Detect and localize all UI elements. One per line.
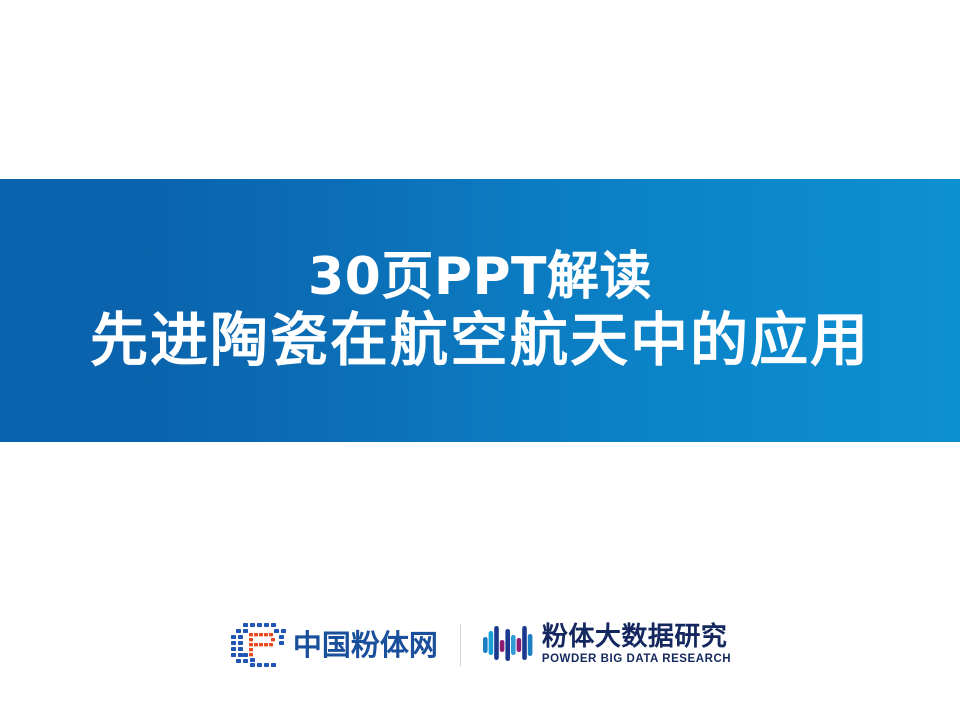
title-line-secondary: 先进陶瓷在航空航天中的应用 bbox=[90, 308, 870, 373]
title-banner: 30页PPT解读 先进陶瓷在航空航天中的应用 bbox=[0, 179, 960, 442]
title-line-primary: 30页PPT解读 bbox=[308, 248, 652, 306]
pixel-grid-cf-mark-icon bbox=[229, 622, 287, 668]
powder-big-data-label-cn: 粉体大数据研究 bbox=[542, 624, 731, 651]
footer-logo-lockup: 中国粉体网 粉体大数据研究 POWDER BIG bbox=[0, 614, 960, 676]
bar-chart-mark-icon bbox=[483, 623, 533, 667]
powder-big-data-labels: 粉体大数据研究 POWDER BIG DATA RESEARCH bbox=[542, 624, 731, 666]
logo-powder-big-data-research: 粉体大数据研究 POWDER BIG DATA RESEARCH bbox=[461, 623, 731, 667]
logo-china-powder-net: 中国粉体网 bbox=[229, 622, 460, 668]
powder-big-data-label-en: POWDER BIG DATA RESEARCH bbox=[542, 654, 731, 666]
slide-canvas: 30页PPT解读 先进陶瓷在航空航天中的应用 bbox=[0, 0, 960, 720]
china-powder-net-label: 中国粉体网 bbox=[293, 631, 438, 660]
